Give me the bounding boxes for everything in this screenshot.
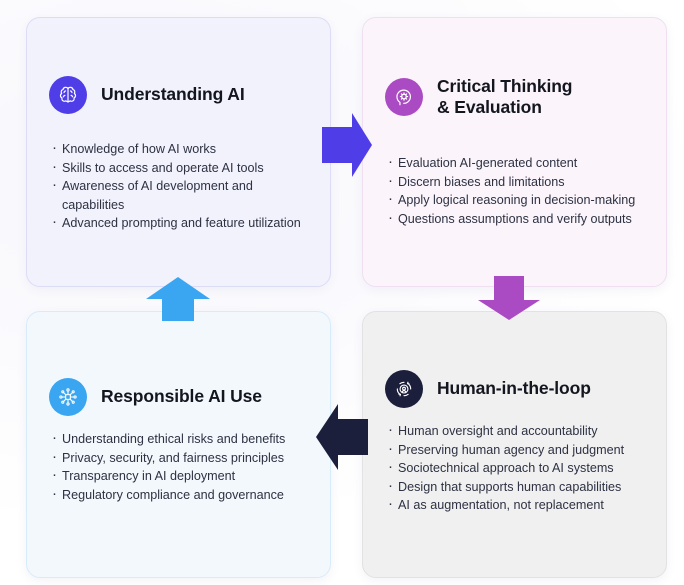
bullet-list: Knowledge of how AI works Skills to acce… (51, 140, 316, 233)
brain-icon (49, 76, 87, 114)
list-item: Transparency in AI deployment (51, 467, 316, 486)
bullet-list: Human oversight and accountability Prese… (387, 422, 652, 515)
list-item: Awareness of AI development and capabili… (51, 177, 316, 214)
card-header: Responsible AI Use (49, 378, 314, 416)
card-header: Human-in-the-loop (385, 370, 650, 408)
card-responsible-ai[interactable]: Responsible AI Use Understanding ethical… (26, 311, 331, 578)
network-nodes-icon (49, 378, 87, 416)
person-in-loop-icon (385, 370, 423, 408)
card-understanding-ai[interactable]: Understanding AI Knowledge of how AI wor… (26, 17, 331, 287)
list-item: Knowledge of how AI works (51, 140, 316, 159)
card-title: Understanding AI (101, 84, 245, 105)
list-item: Sociotechnical approach to AI systems (387, 459, 652, 478)
list-item: Questions assumptions and verify outputs (387, 210, 652, 229)
list-item: Apply logical reasoning in decision-maki… (387, 191, 652, 210)
arrow-down-icon (478, 276, 540, 320)
list-item: Regulatory compliance and governance (51, 486, 316, 505)
card-header: Critical Thinking & Evaluation (385, 76, 650, 119)
card-title: Critical Thinking & Evaluation (437, 76, 572, 119)
list-item: Discern biases and limitations (387, 173, 652, 192)
arrow-left-icon (316, 404, 368, 470)
list-item: AI as augmentation, not replacement (387, 496, 652, 515)
diagram-canvas: Understanding AI Knowledge of how AI wor… (0, 0, 684, 585)
list-item: Evaluation AI-generated content (387, 154, 652, 173)
list-item: Design that supports human capabilities (387, 478, 652, 497)
head-gear-icon (385, 78, 423, 116)
card-header: Understanding AI (49, 76, 314, 114)
arrow-up-icon (146, 277, 210, 321)
list-item: Human oversight and accountability (387, 422, 652, 441)
card-human-in-loop[interactable]: Human-in-the-loop Human oversight and ac… (362, 311, 667, 578)
card-critical-thinking[interactable]: Critical Thinking & Evaluation Evaluatio… (362, 17, 667, 287)
list-item: Preserving human agency and judgment (387, 441, 652, 460)
bullet-list: Understanding ethical risks and benefits… (51, 430, 316, 504)
card-title: Human-in-the-loop (437, 378, 591, 399)
list-item: Skills to access and operate AI tools (51, 159, 316, 178)
arrow-right-icon (322, 113, 372, 177)
list-item: Privacy, security, and fairness principl… (51, 449, 316, 468)
list-item: Advanced prompting and feature utilizati… (51, 214, 316, 233)
list-item: Understanding ethical risks and benefits (51, 430, 316, 449)
card-title: Responsible AI Use (101, 386, 262, 407)
bullet-list: Evaluation AI-generated content Discern … (387, 154, 652, 228)
